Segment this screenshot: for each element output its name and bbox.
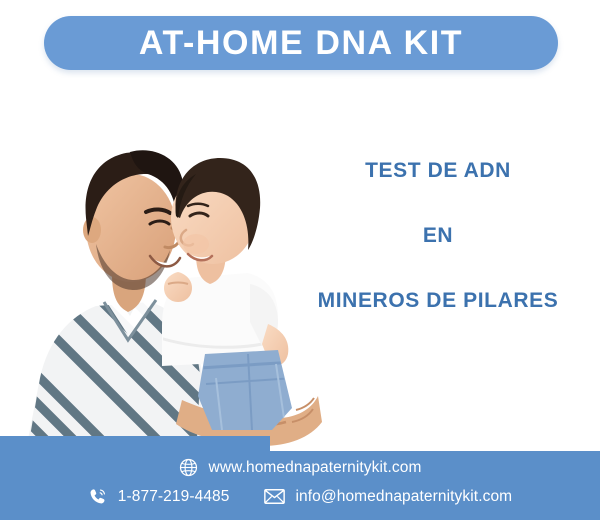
- headline-line-1: TEST DE ADN: [288, 160, 588, 181]
- email-text: info@homednapaternitykit.com: [296, 489, 513, 505]
- phone-icon: [88, 487, 107, 506]
- phone-text: 1-877-219-4485: [118, 489, 230, 505]
- globe-icon: [179, 458, 198, 477]
- photo-illustration: [0, 78, 330, 460]
- website-item[interactable]: www.homednapaternitykit.com: [179, 458, 422, 477]
- father-holding-toddler-photo: [0, 78, 330, 460]
- headline-line-2: EN: [288, 225, 588, 246]
- footer-row-website: www.homednapaternitykit.com: [0, 458, 600, 477]
- email-item[interactable]: info@homednapaternitykit.com: [264, 488, 513, 505]
- headline-block: TEST DE ADN EN MINEROS DE PILARES: [288, 160, 588, 311]
- envelope-icon: [264, 488, 285, 505]
- footer-content: www.homednapaternitykit.com 1-877-219-44…: [0, 451, 600, 520]
- headline-line-3: MINEROS DE PILARES: [288, 290, 588, 311]
- phone-item[interactable]: 1-877-219-4485: [88, 487, 230, 506]
- page-title: AT-HOME DNA KIT: [139, 26, 463, 60]
- dna-kit-promo-banner: AT-HOME DNA KIT: [0, 0, 600, 520]
- header-pill: AT-HOME DNA KIT: [44, 16, 558, 70]
- website-text: www.homednapaternitykit.com: [209, 460, 422, 476]
- footer-row-contact: 1-877-219-4485 info@homednapaternitykit.…: [0, 487, 600, 506]
